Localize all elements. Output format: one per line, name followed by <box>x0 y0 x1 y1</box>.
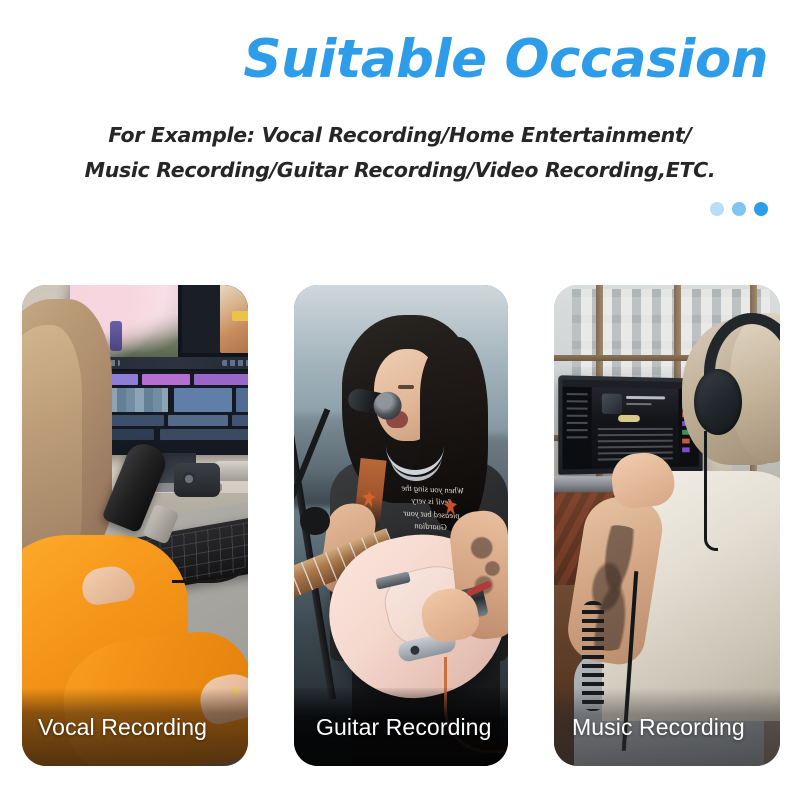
timeline-clip <box>142 374 190 385</box>
video-thumbnail <box>220 285 248 353</box>
headphone-cable <box>704 431 718 551</box>
header-section: Suitable Occasion For Example: Vocal Rec… <box>0 0 800 280</box>
page-title: Suitable Occasion <box>0 32 790 88</box>
card-caption-bar: Music Recording <box>554 688 780 766</box>
person-eye <box>398 385 414 389</box>
play-button <box>618 415 640 422</box>
card-caption-bar: Guitar Recording <box>294 688 508 766</box>
pagination-dots[interactable] <box>710 202 768 216</box>
subtitle-line-1: For Example: Vocal Recording/Home Entert… <box>0 118 800 153</box>
card-music-recording[interactable]: Music Recording <box>554 285 780 766</box>
headphones-earcup <box>694 369 742 435</box>
card-caption-guitar-recording: Guitar Recording <box>294 714 491 741</box>
app-sidebar <box>562 387 591 470</box>
timeline-clip <box>236 388 248 412</box>
pagination-dot-2[interactable] <box>732 202 746 216</box>
microphone-stand-clamp <box>300 507 330 535</box>
card-guitar-recording[interactable]: When you sing thedevil is verypleased bu… <box>294 285 508 766</box>
timeline-clip <box>174 388 232 412</box>
pagination-dot-1[interactable] <box>710 202 724 216</box>
album-artwork <box>602 394 622 414</box>
card-caption-bar: Vocal Recording <box>22 688 248 766</box>
pagination-dot-3[interactable] <box>754 202 768 216</box>
card-caption-vocal-recording: Vocal Recording <box>22 714 207 741</box>
microphone-mount <box>174 463 220 497</box>
timeline-clip <box>168 415 228 426</box>
subtitle-block: For Example: Vocal Recording/Home Entert… <box>0 118 800 189</box>
album-subtitle-line <box>626 403 652 405</box>
album-title-line <box>626 396 665 400</box>
suitable-occasion-page: Suitable Occasion For Example: Vocal Rec… <box>0 0 800 800</box>
timeline-clip <box>160 429 248 440</box>
card-caption-music-recording: Music Recording <box>554 714 745 741</box>
microphone-cable <box>172 525 248 583</box>
card-vocal-recording[interactable]: Vocal Recording <box>22 285 248 766</box>
occasion-card-row: Vocal Recording <box>22 285 778 766</box>
timeline-clip <box>232 415 248 426</box>
subtitle-line-2: Music Recording/Guitar Recording/Video R… <box>0 153 800 188</box>
timeline-clip <box>194 374 248 385</box>
